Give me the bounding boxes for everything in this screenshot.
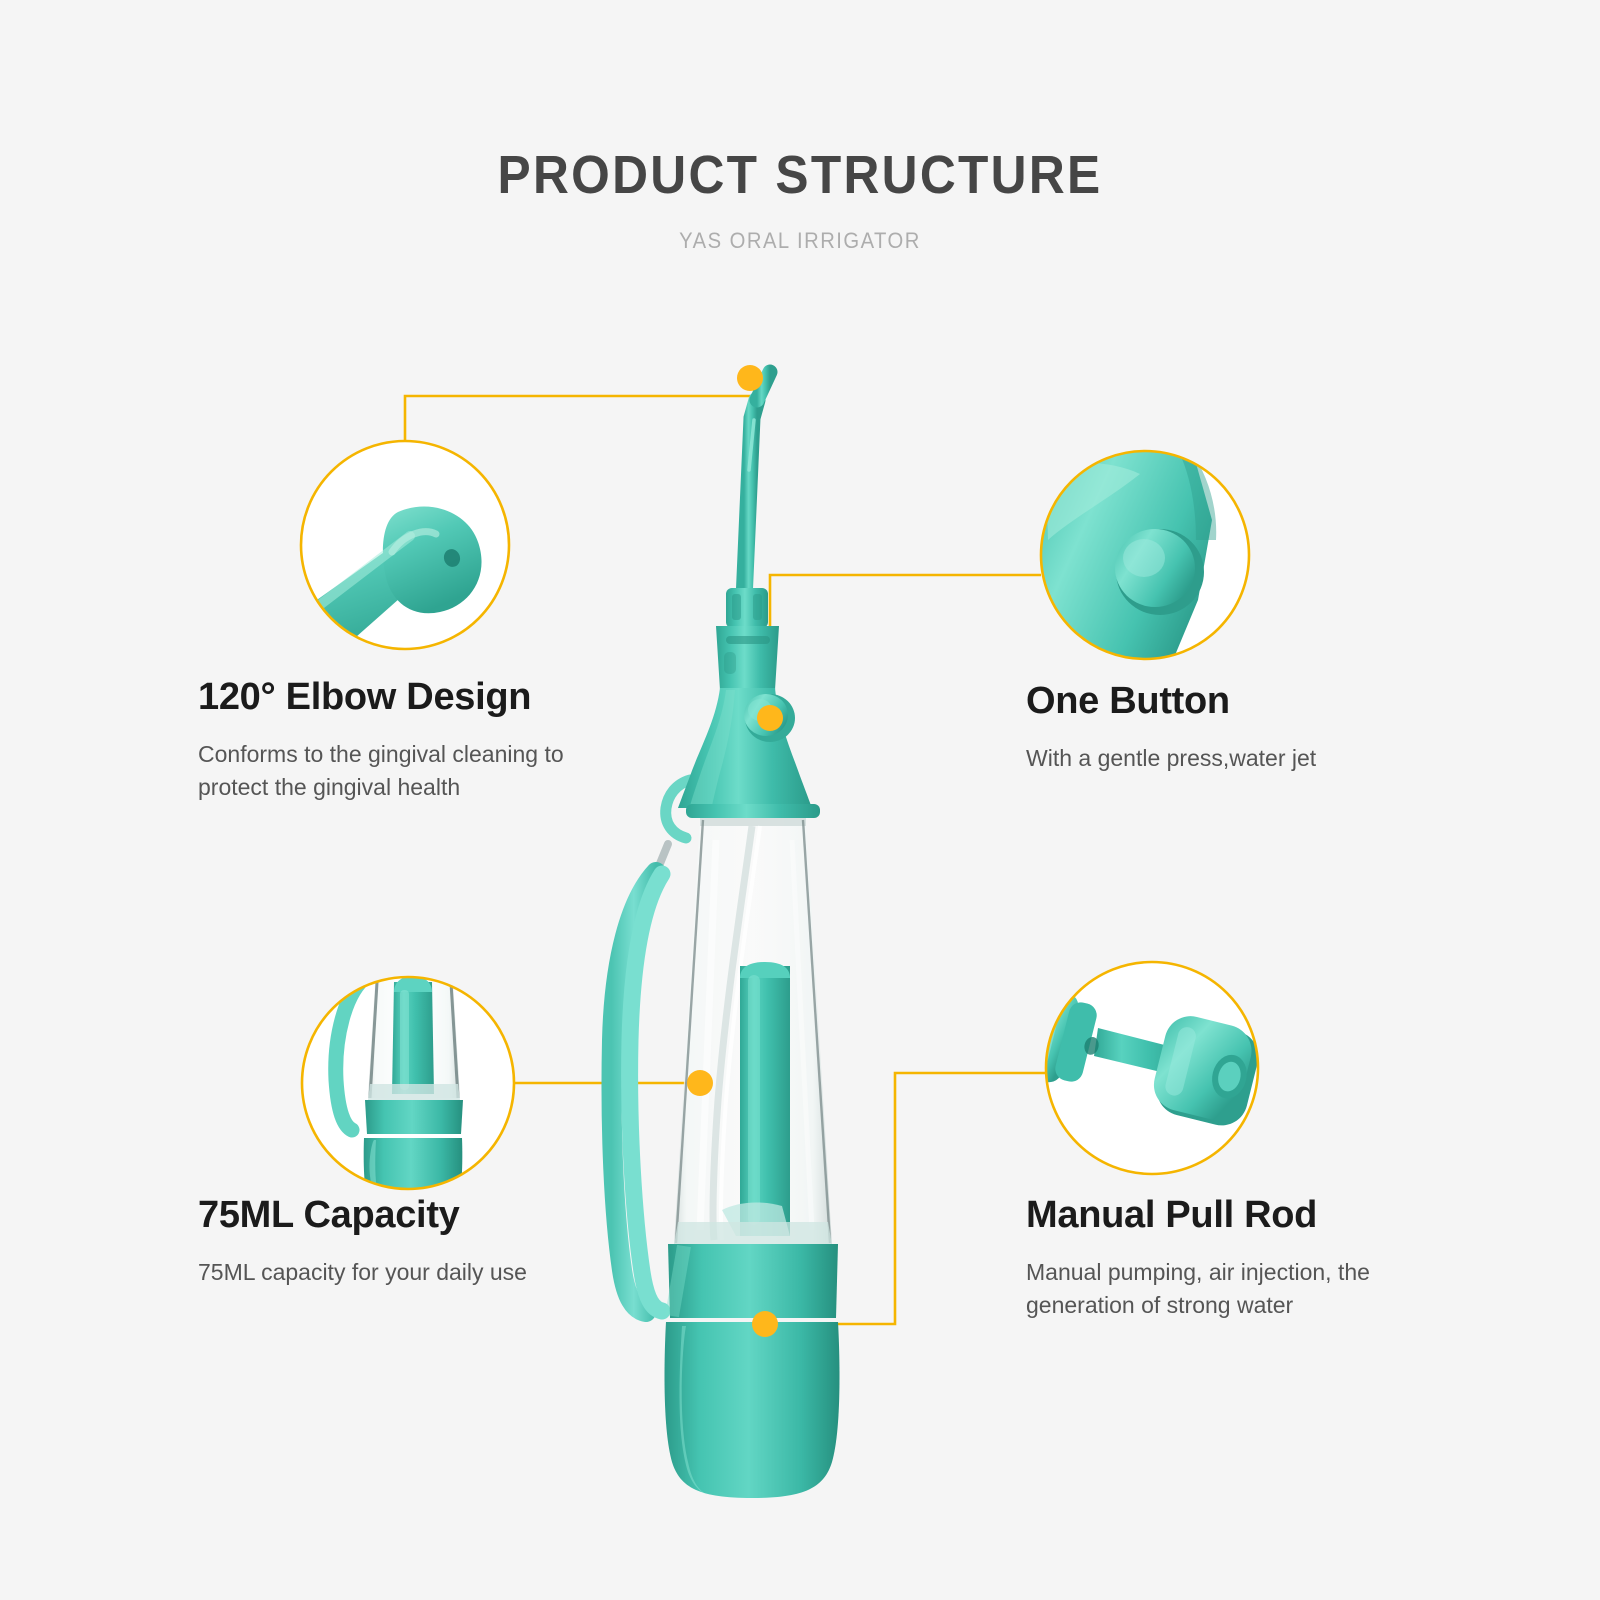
head-housing xyxy=(716,626,779,690)
feature-elbow-desc: Conforms to the gingival cleaning to pro… xyxy=(198,738,618,803)
anchor-dot-capacity xyxy=(687,1070,713,1096)
connector-button xyxy=(770,575,1041,718)
tank-collar xyxy=(686,804,820,818)
infographic-canvas: PRODUCT STRUCTURE YAS ORAL IRRIGATOR xyxy=(0,0,1600,1600)
handle-head xyxy=(678,688,812,808)
feature-elbow-title: 120° Elbow Design xyxy=(198,678,618,718)
feature-button: One Button With a gentle press,water jet xyxy=(1026,682,1316,775)
tank-bottom-frost xyxy=(674,1222,832,1245)
nozzle-collar xyxy=(726,588,768,628)
feature-rod: Manual Pull Rod Manual pumping, air inje… xyxy=(1026,1196,1446,1321)
nozzle-tube xyxy=(744,372,770,600)
callout-circle-rod xyxy=(1016,962,1264,1174)
callout-circle-elbow xyxy=(290,441,509,660)
feature-button-title: One Button xyxy=(1026,682,1316,722)
oral-irrigator-device xyxy=(611,372,839,1498)
callout-circle-button xyxy=(1040,442,1249,672)
feature-capacity: 75ML Capacity 75ML capacity for your dai… xyxy=(198,1196,527,1289)
anchor-dot-rod xyxy=(752,1311,778,1337)
feature-rod-desc: Manual pumping, air injection, the gener… xyxy=(1026,1256,1446,1321)
connector-elbow xyxy=(405,396,750,441)
callout-circle-capacity xyxy=(302,966,514,1222)
base-cap-lower xyxy=(665,1322,840,1498)
anchor-dot-button xyxy=(757,705,783,731)
feature-capacity-desc: 75ML capacity for your daily use xyxy=(198,1256,527,1289)
feature-button-desc: With a gentle press,water jet xyxy=(1026,742,1316,775)
base-cap-upper xyxy=(668,1244,838,1318)
feature-rod-title: Manual Pull Rod xyxy=(1026,1196,1446,1236)
feature-elbow: 120° Elbow Design Conforms to the gingiv… xyxy=(198,678,618,803)
anchor-dot-elbow xyxy=(737,365,763,391)
feature-capacity-title: 75ML Capacity xyxy=(198,1196,527,1236)
